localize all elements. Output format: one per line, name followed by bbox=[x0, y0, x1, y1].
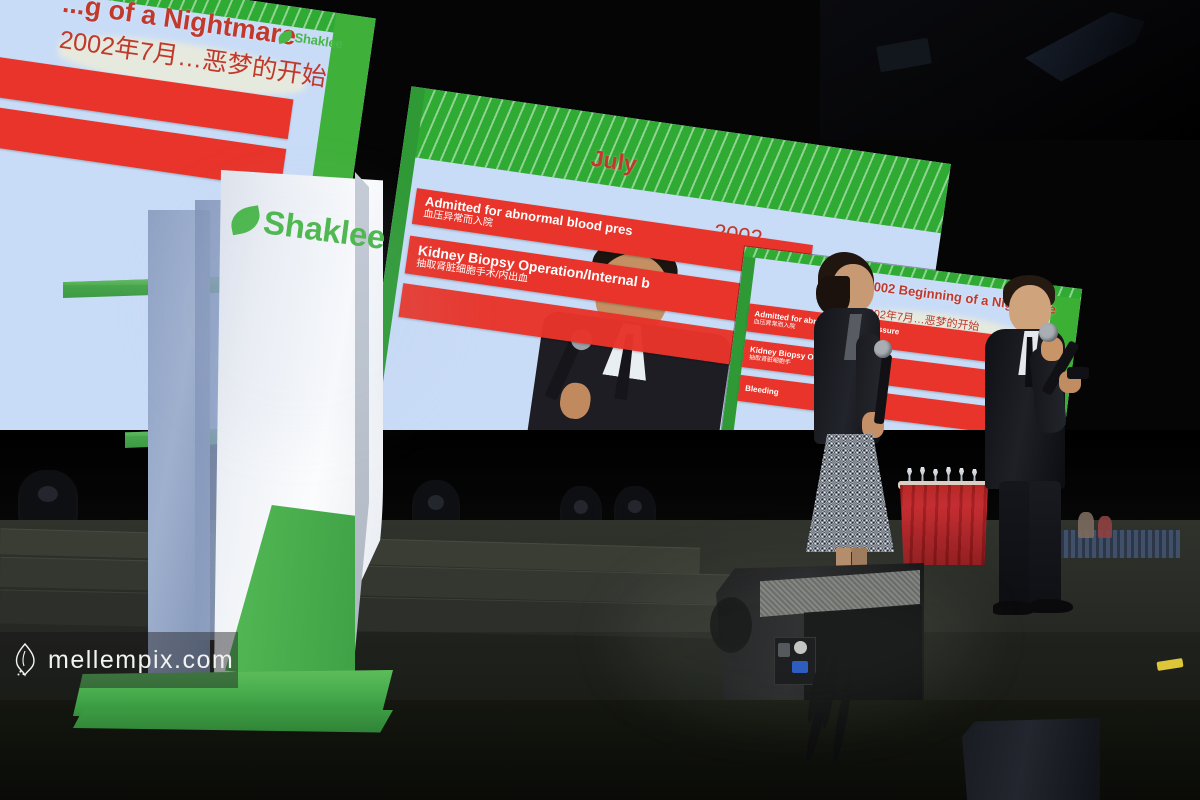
female-presenter bbox=[800, 252, 910, 572]
male-presenter-shoe bbox=[1029, 599, 1073, 613]
monitor-jack-power bbox=[778, 643, 790, 657]
monitor-jack-xlr bbox=[794, 641, 807, 654]
female-presenter-mic-head bbox=[874, 340, 892, 358]
moving-head-lens bbox=[428, 495, 444, 510]
butterfly-icon bbox=[12, 642, 40, 678]
monitor-side-woofer bbox=[710, 597, 752, 653]
moving-head-lens bbox=[574, 500, 588, 514]
male-presenter-mic-head bbox=[1039, 323, 1058, 342]
female-presenter-skirt bbox=[806, 434, 894, 552]
moving-head-lens bbox=[628, 500, 642, 514]
stage-monitor-speaker-right bbox=[962, 718, 1100, 800]
audience-member bbox=[1098, 516, 1112, 538]
monitor-jack-vga bbox=[792, 661, 808, 673]
podium-base-front bbox=[73, 710, 393, 740]
male-presenter-leg bbox=[999, 481, 1031, 609]
stage-presentation-photo: ...g of a Nightmare 2002年7月…恶梦的开始 Shakle… bbox=[0, 0, 1200, 800]
watermark-text: mellempix.com bbox=[48, 646, 234, 675]
stage-monitor-speaker-front bbox=[716, 563, 924, 700]
presentation-clicker bbox=[1067, 367, 1089, 379]
podium-shaklee-wordmark: Shaklee bbox=[261, 203, 387, 257]
male-presenter-leg bbox=[1029, 481, 1061, 607]
shaklee-leaf-icon bbox=[277, 30, 293, 44]
male-presenter bbox=[975, 275, 1095, 625]
watermark: mellempix.com bbox=[0, 632, 238, 688]
shaklee-leaf-icon bbox=[229, 205, 263, 235]
monitor-cabinet bbox=[962, 718, 1100, 800]
